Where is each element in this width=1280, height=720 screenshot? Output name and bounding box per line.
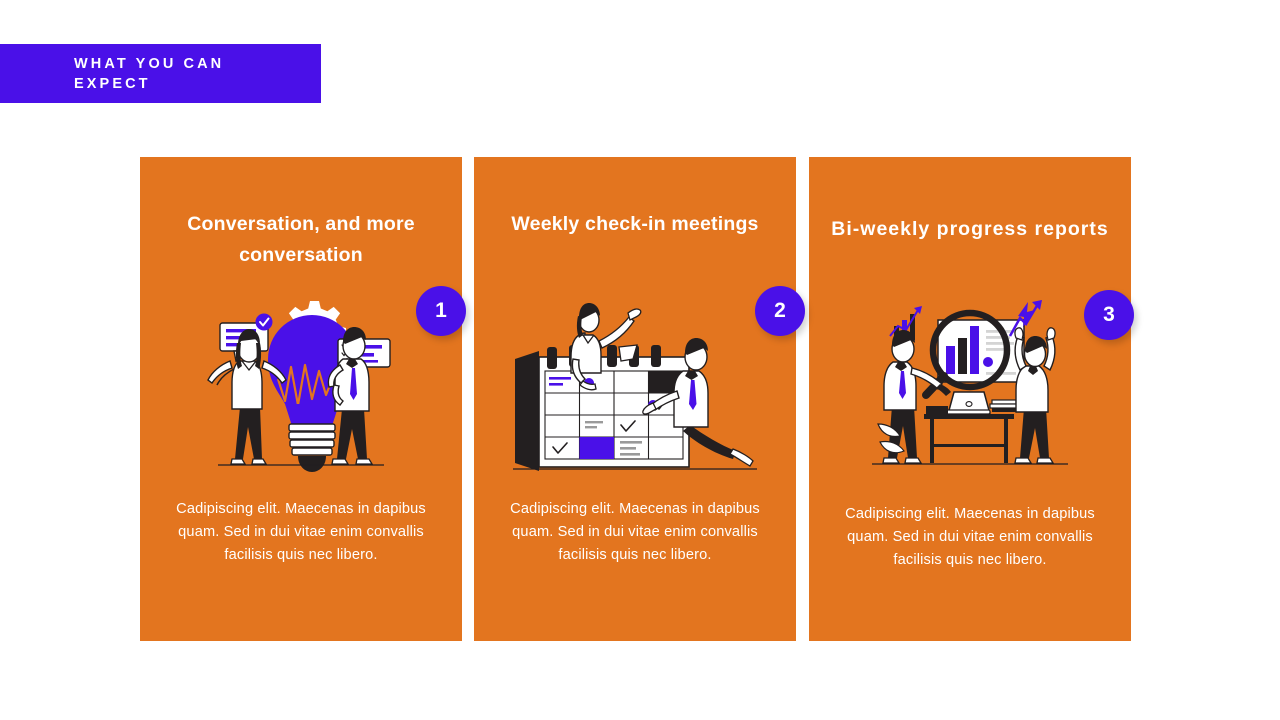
cards-row: Conversation, and more conversation [140, 157, 1131, 641]
section-header-banner: WHAT YOU CAN EXPECT [0, 44, 321, 103]
card-conversation[interactable]: Conversation, and more conversation [140, 157, 462, 641]
card-title: Conversation, and more conversation [160, 209, 442, 271]
page-title: WHAT YOU CAN EXPECT [74, 54, 321, 94]
calendar-planning-icon [474, 285, 796, 485]
report-analysis-icon [809, 285, 1131, 485]
card-body-text: Cadipiscing elit. Maecenas in dapibus qu… [839, 503, 1101, 572]
lightbulb-teamwork-icon [140, 285, 462, 485]
card-progress-reports[interactable]: Bi-weekly progress reports [809, 157, 1131, 641]
step-badge-number: 2 [774, 299, 786, 323]
step-badge-number: 3 [1103, 303, 1115, 327]
card-weekly-checkin[interactable]: Weekly check-in meetings [474, 157, 796, 641]
card-title: Bi-weekly progress reports [829, 214, 1111, 245]
step-badge-2: 2 [755, 286, 805, 336]
step-badge-1: 1 [416, 286, 466, 336]
step-badge-3: 3 [1084, 290, 1134, 340]
card-body-text: Cadipiscing elit. Maecenas in dapibus qu… [504, 498, 766, 567]
card-body-text: Cadipiscing elit. Maecenas in dapibus qu… [170, 498, 432, 567]
step-badge-number: 1 [435, 299, 447, 323]
card-title: Weekly check-in meetings [494, 209, 776, 240]
